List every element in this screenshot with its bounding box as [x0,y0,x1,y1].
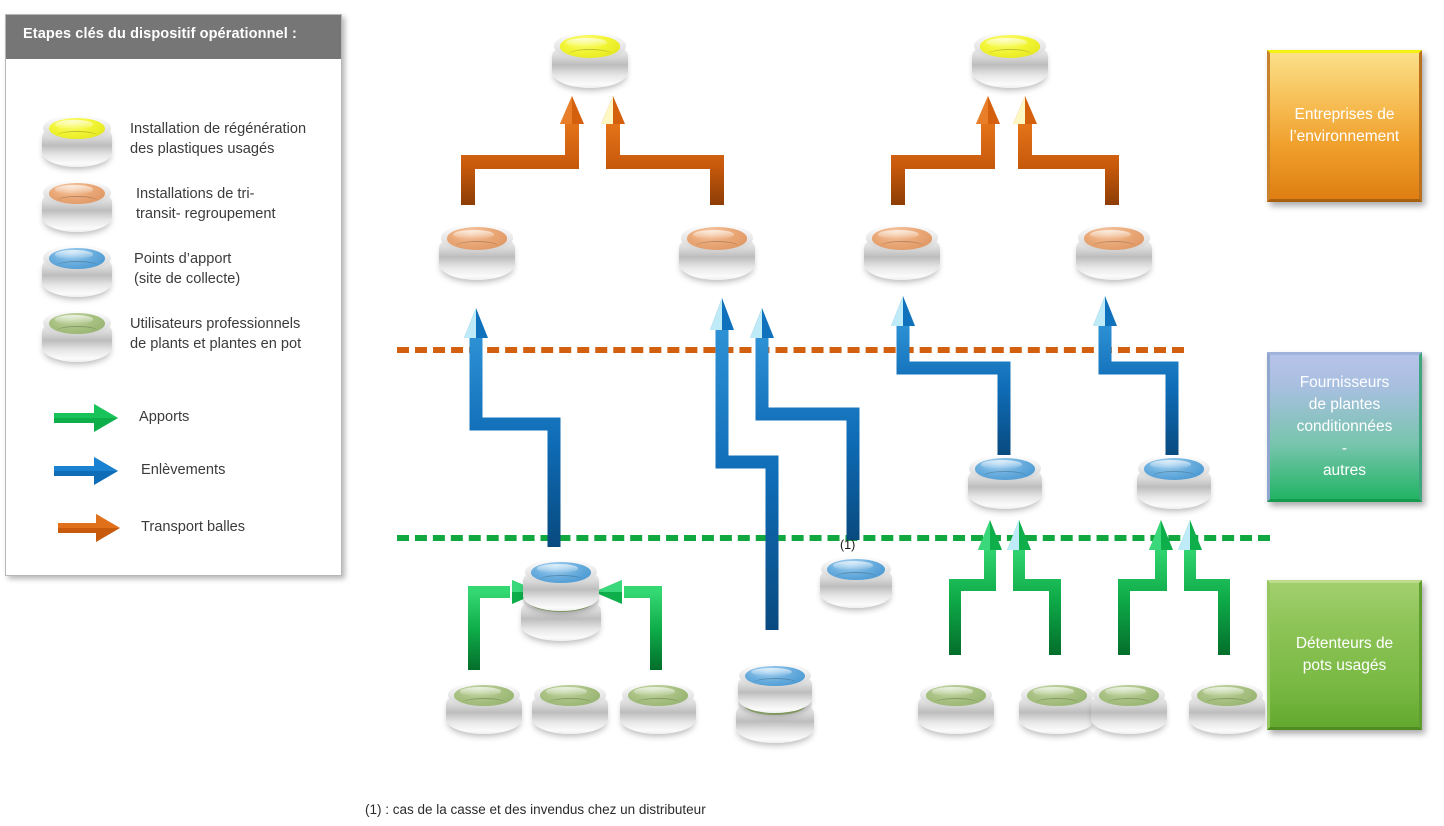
pot-green-icon [42,310,112,362]
pro-user-5[interactable] [1019,682,1095,734]
legend-flow-label: Enlèvements [141,460,225,480]
legend-step-label: Installation de régénération des plastiq… [130,119,306,159]
pot-fill [1197,685,1258,706]
legend-step-label: Points d’apport (site de collecte) [134,249,240,289]
legend-flow-row-apports[interactable]: Apports [6,399,343,439]
arrow-green-icon [54,403,120,433]
category-label: Fournisseurs de plantes conditionnées - … [1289,372,1401,482]
pro-user-2[interactable] [532,682,608,734]
legend-flow-label: Transport balles [141,517,245,537]
pot-fill [628,685,689,706]
category-label: Détenteurs de pots usagés [1288,633,1401,677]
category-label: Entreprises de l’environnement [1282,104,1407,148]
pot-fill [980,35,1041,57]
category-box-fournisseurs-plantes[interactable]: Fournisseurs de plantes conditionnées - … [1267,352,1422,502]
pot-fill [975,458,1034,480]
stack-upper-pot [738,663,812,713]
pot-fill [1084,227,1145,249]
pot-fill [454,685,515,706]
sorting-site-2[interactable] [679,224,755,280]
footnote: (1) : cas de la casse et des invendus ch… [365,802,706,817]
pot-fill [1099,685,1160,706]
pot-fill [926,685,987,706]
legend-step-label: Installations de tri- transit- regroupem… [136,184,276,224]
pot-orange-icon [42,180,112,232]
arrow-orange-icon [58,513,124,543]
sorting-site-1[interactable] [439,224,515,280]
pot-blue-icon [42,245,112,297]
legend-step-row-tri-transit[interactable]: Installations de tri- transit- regroupem… [6,174,343,234]
pro-user-7[interactable] [1189,682,1265,734]
collection-point-3[interactable] [820,556,892,608]
pot-fill [872,227,933,249]
legend-body: Installation de régénération des plastiq… [6,59,341,577]
pot-fill [540,685,601,706]
pot-fill [687,227,748,249]
sorting-site-3[interactable] [864,224,940,280]
stack-upper-pot [523,559,599,611]
legend-step-row-regeneration[interactable]: Installation de régénération des plastiq… [6,109,343,169]
marker-1: (1) [840,538,855,552]
legend-flow-row-transport[interactable]: Transport balles [6,509,343,549]
legend-title: Etapes clés du dispositif opérationnel : [23,26,297,42]
pot-fill [745,666,804,686]
pot-fill [1027,685,1088,706]
category-box-detenteurs-pots[interactable]: Détenteurs de pots usagés [1267,580,1422,730]
pot-fill [560,35,621,57]
transport-arrow-right-1 [898,96,1000,205]
legend-flow-row-enlevements[interactable]: Enlèvements [6,452,343,492]
transport-arrow-left-2 [601,96,717,205]
removal-arrow-4 [891,296,1004,455]
pot-fill [49,313,105,334]
regeneration-plant-left[interactable] [552,32,628,88]
pot-fill [49,118,105,139]
collection-point-1[interactable] [968,455,1042,509]
category-box-entreprises-environnement[interactable]: Entreprises de l’environnement [1267,50,1422,202]
pro-user-3[interactable] [620,682,696,734]
supply-arrow-left-3 [594,580,656,670]
pro-user-6[interactable] [1091,682,1167,734]
removal-arrow-5 [1093,296,1172,455]
pot-fill [49,248,105,269]
legend-step-row-points-apport[interactable]: Points d’apport (site de collecte) [6,239,343,299]
pot-yellow-icon [42,115,112,167]
collection-point-4[interactable] [521,559,601,641]
removal-arrow-1 [464,308,554,547]
legend-step-row-utilisateurs[interactable]: Utilisateurs professionnels de plants et… [6,304,343,364]
legend-flow-label: Apports [139,407,189,427]
transport-arrow-right-2 [1013,96,1112,205]
pot-fill [49,183,105,204]
legend-header: Etapes clés du dispositif opérationnel : [6,15,341,59]
pot-fill [531,562,592,583]
collection-point-2[interactable] [1137,455,1211,509]
legend-panel: Etapes clés du dispositif opérationnel :… [5,14,342,576]
diagram-canvas: (1) [0,0,1444,826]
pot-fill [827,559,885,580]
transport-arrow-left-1 [468,96,584,205]
legend-step-label: Utilisateurs professionnels de plants et… [130,314,301,354]
pot-fill [447,227,508,249]
sorting-site-4[interactable] [1076,224,1152,280]
arrow-blue-icon [54,456,120,486]
removal-arrow-3 [750,308,853,540]
pro-user-1[interactable] [446,682,522,734]
green-separator [397,535,1270,541]
regeneration-plant-right[interactable] [972,32,1048,88]
collection-point-5[interactable] [736,663,814,743]
pro-user-4[interactable] [918,682,994,734]
pot-fill [1144,458,1203,480]
orange-separator [397,347,1184,353]
